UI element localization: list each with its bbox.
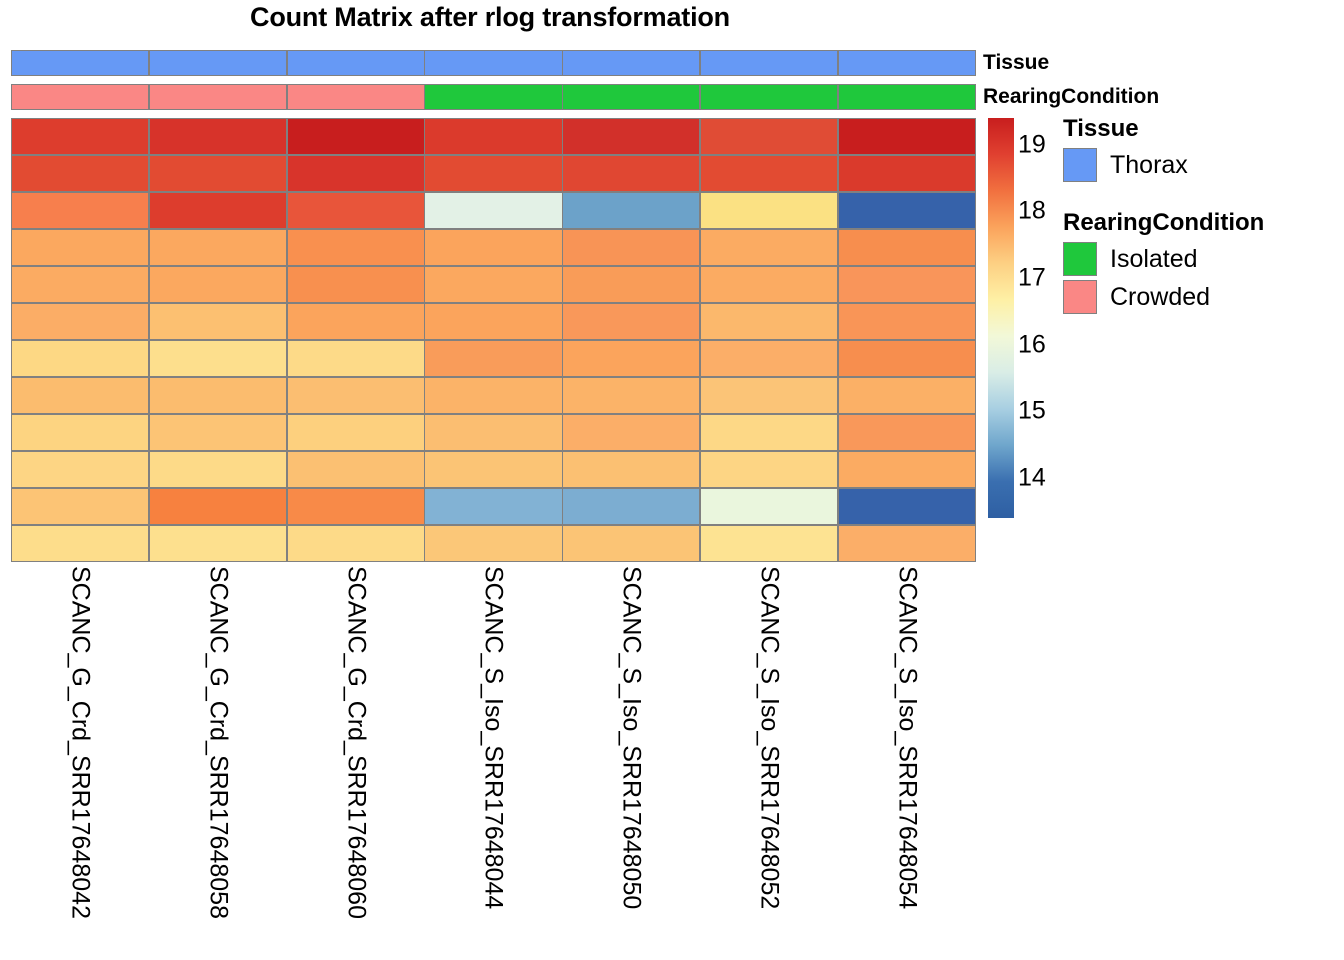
heatmap-cell [701, 415, 837, 450]
heatmap-cell [150, 341, 286, 376]
column-label: SCANC_S_Iso_SRR17648054 [895, 566, 920, 909]
heatmap-cell [288, 267, 424, 302]
heatmap-cell [12, 526, 148, 561]
heatmap-cell [839, 156, 975, 191]
legend-rearingcondition: RearingCondition IsolatedCrowded [1063, 210, 1264, 316]
heatmap-cell [563, 304, 699, 339]
annotation-label-tissue: Tissue [983, 50, 1049, 76]
colorbar-tick: 14 [1018, 466, 1046, 491]
heatmap-cell [288, 452, 424, 487]
heatmap-cell [425, 304, 561, 339]
heatmap-grid [11, 118, 976, 562]
heatmap-cell [425, 378, 561, 413]
annotation-cell-rearingcondition [12, 85, 148, 109]
annotation-cell-rearingcondition [288, 85, 424, 109]
heatmap-cell [425, 452, 561, 487]
legend-label: Thorax [1110, 153, 1188, 178]
annotation-cell-rearingcondition [425, 85, 561, 109]
legend-item-rearingcondition: Crowded [1063, 278, 1264, 316]
heatmap-cell [563, 526, 699, 561]
column-label: SCANC_G_Crd_SRR17648060 [343, 566, 368, 919]
colorbar-tick: 15 [1018, 399, 1046, 424]
heatmap-cell [425, 156, 561, 191]
heatmap-cell [701, 341, 837, 376]
annotation-cell-tissue [12, 51, 148, 75]
column-label-slot: SCANC_S_Iso_SRR17648044 [425, 564, 563, 956]
heatmap-cell [701, 378, 837, 413]
column-label-slot: SCANC_S_Iso_SRR17648054 [838, 564, 976, 956]
colorbar-tick: 16 [1018, 332, 1046, 357]
heatmap-cell [150, 119, 286, 154]
column-label: SCANC_S_Iso_SRR17648052 [757, 566, 782, 909]
heatmap-cell [288, 304, 424, 339]
legend-item-rearingcondition: Isolated [1063, 240, 1264, 278]
legend-items-tissue: Thorax [1063, 146, 1188, 184]
heatmap-cell [701, 193, 837, 228]
heatmap-cell [425, 267, 561, 302]
heatmap-cell [288, 119, 424, 154]
heatmap-cell [425, 230, 561, 265]
colorbar-tick: 17 [1018, 266, 1046, 291]
column-label-slot: SCANC_G_Crd_SRR17648042 [11, 564, 149, 956]
heatmap-cell [288, 341, 424, 376]
column-label-slot: SCANC_S_Iso_SRR17648052 [700, 564, 838, 956]
column-label: SCANC_S_Iso_SRR17648044 [481, 566, 506, 909]
legend-title-tissue: Tissue [1063, 116, 1188, 142]
page-title: Count Matrix after rlog transformation [0, 2, 980, 33]
heatmap-cell [701, 489, 837, 524]
legend-title-rearingcondition: RearingCondition [1063, 210, 1264, 236]
colorbar-gradient [988, 118, 1014, 518]
heatmap-cell [839, 341, 975, 376]
column-label: SCANC_G_Crd_SRR17648058 [205, 566, 230, 919]
annotation-label-rearingcondition: RearingCondition [983, 84, 1159, 110]
annotation-cell-tissue [425, 51, 561, 75]
heatmap-cell [839, 489, 975, 524]
column-label: SCANC_G_Crd_SRR17648042 [67, 566, 92, 919]
heatmap-cell [288, 230, 424, 265]
heatmap-cell [288, 193, 424, 228]
legend-swatch-icon [1063, 242, 1097, 276]
heatmap-cell [701, 119, 837, 154]
legend-swatch-icon [1063, 148, 1097, 182]
column-label-axis: SCANC_G_Crd_SRR17648042SCANC_G_Crd_SRR17… [11, 564, 976, 956]
heatmap-cell [839, 526, 975, 561]
heatmap-cell [701, 304, 837, 339]
heatmap-cell [12, 452, 148, 487]
legend-label: Crowded [1110, 285, 1210, 310]
heatmap-cell [701, 452, 837, 487]
heatmap-cell [563, 415, 699, 450]
heatmap-cell [150, 304, 286, 339]
heatmap-cell [839, 119, 975, 154]
heatmap-cell [12, 489, 148, 524]
heatmap-cell [563, 489, 699, 524]
heatmap-cell [701, 156, 837, 191]
heatmap-cell [563, 119, 699, 154]
colorbar-tick: 18 [1018, 199, 1046, 224]
legend-item-tissue: Thorax [1063, 146, 1188, 184]
heatmap-cell [288, 489, 424, 524]
heatmap-cell [563, 156, 699, 191]
heatmap-cell [150, 156, 286, 191]
heatmap-cell [839, 452, 975, 487]
heatmap-cell [839, 267, 975, 302]
heatmap-cell [563, 267, 699, 302]
annotation-cell-rearingcondition [839, 85, 975, 109]
heatmap-cell [150, 193, 286, 228]
annotation-cell-tissue [563, 51, 699, 75]
heatmap-cell [839, 230, 975, 265]
heatmap-cell [12, 378, 148, 413]
heatmap-cell [12, 341, 148, 376]
heatmap-cell [288, 378, 424, 413]
heatmap-cell [150, 452, 286, 487]
column-label-slot: SCANC_S_Iso_SRR17648050 [562, 564, 700, 956]
heatmap-cell [150, 378, 286, 413]
heatmap-cell [563, 452, 699, 487]
annotation-cell-tissue [288, 51, 424, 75]
heatmap-cell [150, 489, 286, 524]
heatmap-cell [12, 304, 148, 339]
heatmap-cell [12, 415, 148, 450]
heatmap-cell [150, 230, 286, 265]
column-label: SCANC_S_Iso_SRR17648050 [619, 566, 644, 909]
column-label-slot: SCANC_G_Crd_SRR17648060 [287, 564, 425, 956]
heatmap-cell [150, 526, 286, 561]
heatmap-cell [288, 415, 424, 450]
heatmap-cell [839, 193, 975, 228]
colorbar-tick: 19 [1018, 132, 1046, 157]
heatmap-cell [563, 378, 699, 413]
heatmap-cell [563, 193, 699, 228]
heatmap-cell [425, 193, 561, 228]
annotation-cell-rearingcondition [150, 85, 286, 109]
heatmap-cell [425, 415, 561, 450]
heatmap-cell [288, 156, 424, 191]
legend-swatch-icon [1063, 280, 1097, 314]
heatmap-cell [563, 341, 699, 376]
annotation-row-rearingcondition [11, 84, 976, 110]
heatmap-cell [12, 193, 148, 228]
colorbar-tick-labels: 191817161514 [1018, 118, 1068, 518]
heatmap-cell [839, 378, 975, 413]
heatmap-cell [701, 230, 837, 265]
heatmap-cell [563, 230, 699, 265]
column-label-slot: SCANC_G_Crd_SRR17648058 [149, 564, 287, 956]
annotation-cell-rearingcondition [563, 85, 699, 109]
legend-tissue: Tissue Thorax [1063, 116, 1188, 184]
heatmap-cell [150, 267, 286, 302]
annotation-cell-rearingcondition [701, 85, 837, 109]
heatmap-cell [425, 341, 561, 376]
annotation-cell-tissue [150, 51, 286, 75]
heatmap-cell [425, 119, 561, 154]
annotation-row-tissue [11, 50, 976, 76]
heatmap-cell [701, 526, 837, 561]
annotation-cell-tissue [701, 51, 837, 75]
heatmap-cell [12, 119, 148, 154]
legend-label: Isolated [1110, 247, 1198, 272]
heatmap-cell [839, 304, 975, 339]
heatmap-cell [12, 267, 148, 302]
heatmap-cell [12, 230, 148, 265]
heatmap-cell [288, 526, 424, 561]
heatmap-cell [701, 267, 837, 302]
heatmap-cell [425, 526, 561, 561]
legend-items-rearingcondition: IsolatedCrowded [1063, 240, 1264, 316]
heatmap-cell [839, 415, 975, 450]
heatmap-cell [12, 156, 148, 191]
heatmap-cell [425, 489, 561, 524]
heatmap-cell [150, 415, 286, 450]
annotation-cell-tissue [839, 51, 975, 75]
